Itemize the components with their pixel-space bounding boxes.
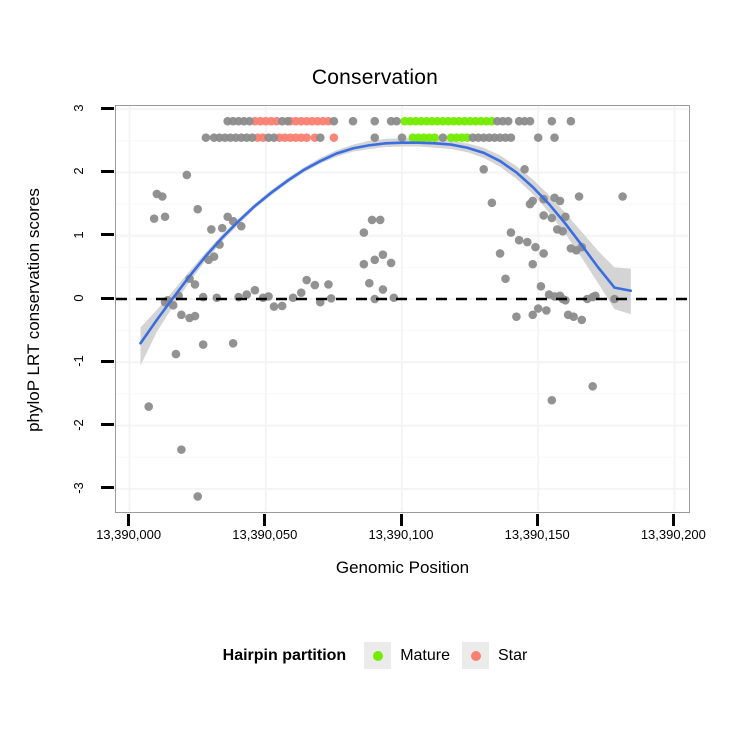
data-point <box>297 288 306 297</box>
data-point <box>548 214 557 223</box>
data-point <box>283 117 292 126</box>
x-tick-label: 13,390,050 <box>205 527 325 542</box>
page-title: Conservation <box>0 66 750 90</box>
data-point <box>556 197 565 206</box>
y-axis-title: phyloP LRT conservation scores <box>24 105 48 515</box>
y-tick-mark <box>101 233 114 236</box>
legend-item-mature[interactable]: Mature <box>364 642 450 669</box>
data-point <box>177 311 186 320</box>
data-point <box>531 243 540 252</box>
x-tick-mark <box>672 514 675 526</box>
data-point <box>360 228 369 237</box>
y-axis-title-text: phyloP LRT conservation scores <box>24 105 44 515</box>
plot-canvas <box>116 106 688 511</box>
data-point <box>588 382 597 391</box>
data-point <box>183 171 192 180</box>
data-point <box>316 133 325 142</box>
data-point <box>548 117 557 126</box>
data-point <box>245 117 254 126</box>
data-point <box>430 133 439 142</box>
x-tick-mark <box>127 514 130 526</box>
y-tick-label: 2 <box>71 154 87 188</box>
data-point <box>558 227 567 236</box>
data-point <box>534 133 543 142</box>
data-point <box>270 133 279 142</box>
legend-item-star[interactable]: Star <box>462 642 527 669</box>
data-point <box>302 276 311 285</box>
data-point <box>370 133 379 142</box>
x-tick-label: 13,390,000 <box>69 527 189 542</box>
data-point <box>379 250 388 259</box>
x-tick-label: 13,390,100 <box>341 527 461 542</box>
data-point <box>172 350 181 359</box>
x-tick-mark <box>536 514 539 526</box>
data-point <box>387 259 396 268</box>
data-point <box>370 255 379 264</box>
y-tick-label: -3 <box>71 471 87 505</box>
data-point <box>542 306 551 315</box>
data-point <box>392 117 401 126</box>
data-point <box>528 260 537 269</box>
data-point <box>504 117 513 126</box>
data-point <box>144 402 153 411</box>
conservation-chart-figure: Conservation phyloP LRT conservation sco… <box>0 0 750 750</box>
data-point <box>349 117 358 126</box>
data-point <box>548 396 557 405</box>
y-tick-mark <box>101 297 114 300</box>
legend: Hairpin partition Mature Star <box>0 642 750 669</box>
data-point <box>191 312 200 321</box>
data-point <box>251 286 260 295</box>
data-point <box>302 133 311 142</box>
data-point <box>398 133 407 142</box>
data-point <box>507 228 516 237</box>
data-point <box>618 192 627 201</box>
legend-dot-mature-icon <box>373 651 383 661</box>
legend-label-mature: Mature <box>400 647 450 665</box>
y-tick-label: -2 <box>71 408 87 442</box>
legend-key-star <box>462 642 489 669</box>
data-point <box>193 205 202 214</box>
data-point <box>330 133 339 142</box>
data-point <box>289 293 298 302</box>
y-tick-mark <box>101 486 114 489</box>
data-point <box>158 192 167 201</box>
data-point <box>376 216 385 225</box>
data-point <box>330 117 339 126</box>
data-point <box>327 294 336 303</box>
y-tick-label: 1 <box>71 218 87 252</box>
data-point <box>248 133 257 142</box>
data-point <box>567 117 576 126</box>
data-point <box>439 133 448 142</box>
y-tick-mark <box>101 107 114 110</box>
y-tick-label: 3 <box>71 91 87 125</box>
data-point <box>561 296 570 305</box>
data-point <box>311 281 320 290</box>
data-point <box>526 117 535 126</box>
data-point <box>210 252 219 261</box>
data-point <box>523 238 532 247</box>
y-tick-mark <box>101 423 114 426</box>
data-point <box>526 200 535 209</box>
data-point <box>501 274 510 283</box>
y-tick-mark <box>101 360 114 363</box>
legend-label-star: Star <box>498 647 527 665</box>
data-point <box>229 339 238 348</box>
data-point <box>572 246 581 255</box>
data-point <box>539 211 548 220</box>
data-point <box>270 302 279 311</box>
data-point <box>515 236 524 245</box>
data-point <box>360 260 369 269</box>
data-point <box>212 293 221 302</box>
y-tick-label: -1 <box>71 344 87 378</box>
x-tick-mark <box>263 514 266 526</box>
data-point <box>161 212 170 221</box>
data-point <box>528 311 537 320</box>
data-point <box>242 290 251 299</box>
x-axis-title: Genomic Position <box>115 558 690 578</box>
data-point <box>575 192 584 201</box>
series-star <box>251 117 339 142</box>
series-other <box>144 117 627 501</box>
data-point <box>520 165 529 174</box>
x-tick-label: 13,390,150 <box>477 527 597 542</box>
data-point <box>324 280 333 289</box>
legend-dot-star-icon <box>471 651 481 661</box>
data-point <box>577 316 586 325</box>
data-point <box>390 293 399 302</box>
data-point <box>177 445 186 454</box>
data-point <box>569 312 578 321</box>
data-point <box>479 165 488 174</box>
data-point <box>550 133 559 142</box>
data-point <box>278 302 287 311</box>
data-point <box>193 492 202 501</box>
data-point <box>512 312 521 321</box>
data-point <box>507 133 516 142</box>
data-point <box>150 214 159 223</box>
data-point <box>537 282 546 291</box>
data-point <box>365 279 374 288</box>
data-point <box>488 199 497 208</box>
y-tick-mark <box>101 170 114 173</box>
data-point <box>370 117 379 126</box>
data-point <box>368 216 377 225</box>
data-point <box>199 340 208 349</box>
data-point <box>539 249 548 258</box>
x-tick-label: 13,390,200 <box>613 527 733 542</box>
data-point <box>496 249 505 258</box>
legend-title: Hairpin partition <box>223 647 347 665</box>
legend-key-mature <box>364 642 391 669</box>
data-point <box>207 225 216 234</box>
data-point <box>379 285 388 294</box>
data-point <box>218 224 227 233</box>
data-point <box>191 280 200 289</box>
data-point <box>202 133 211 142</box>
plot-panel <box>115 105 690 513</box>
x-tick-mark <box>400 514 403 526</box>
y-tick-label: 0 <box>71 281 87 315</box>
